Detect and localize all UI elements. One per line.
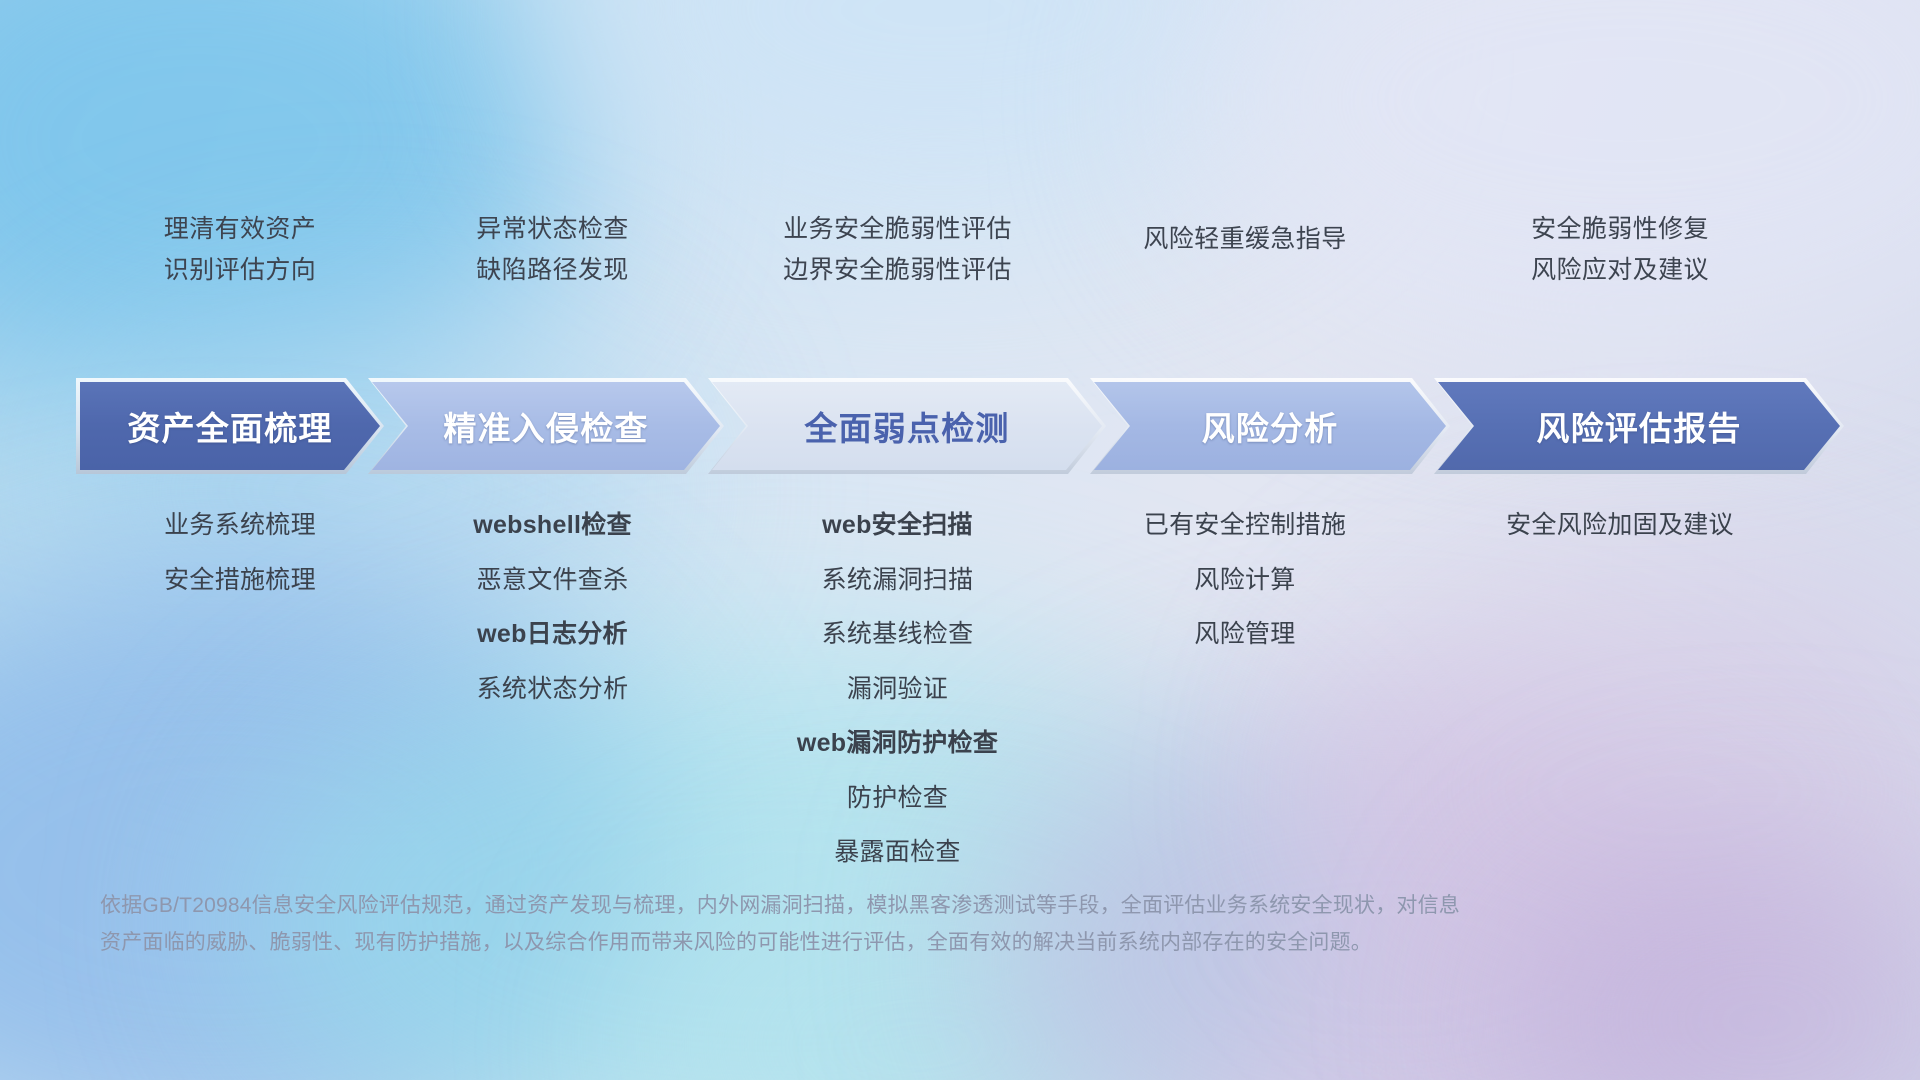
top-label: 风险应对及建议 [1410,250,1830,291]
detail-item: web安全扫描 [715,505,1080,546]
top-label-row: 理清有效资产 识别评估方向 异常状态检查 缺陷路径发现 业务安全脆弱性评估 边界… [90,180,1830,290]
detail-list-stage-3: web安全扫描 系统漏洞扫描 系统基线检查 漏洞验证 web漏洞防护检查 防护检… [715,505,1080,887]
detail-list-stage-4: 已有安全控制措施 风险计算 风险管理 [1080,505,1410,887]
bottom-detail-row: 业务系统梳理 安全措施梳理 webshell检查 恶意文件查杀 web日志分析 … [90,505,1830,887]
footer-line-1: 依据GB/T20984信息安全风险评估规范，通过资产发现与梳理，内外网漏洞扫描，… [100,888,1640,925]
top-label: 风险轻重缓急指导 [1080,219,1410,260]
chevron-stage-2[interactable]: 精准入侵检查 [372,382,720,470]
detail-item: 系统基线检查 [715,614,1080,655]
top-label: 安全脆弱性修复 [1410,209,1830,250]
detail-item: 已有安全控制措施 [1080,505,1410,546]
top-label: 理清有效资产 [90,209,390,250]
detail-item: 安全风险加固及建议 [1410,505,1830,546]
footer-line-2: 资产面临的威胁、脆弱性、现有防护措施，以及综合作用而带来风险的可能性进行评估，全… [100,925,1640,962]
chevron-label: 风险评估报告 [1536,402,1741,450]
detail-list-stage-5: 安全风险加固及建议 [1410,505,1830,887]
detail-item: web漏洞防护检查 [715,723,1080,764]
chevron-stage-3[interactable]: 全面弱点检测 [712,382,1102,470]
detail-list-stage-2: webshell检查 恶意文件查杀 web日志分析 系统状态分析 [390,505,715,887]
process-chevron-band: 资产全面梳理 精准入侵检查 全面弱点检测 风险分析 风险评估报告 [80,382,1840,470]
top-label: 识别评估方向 [90,250,390,291]
detail-item: 风险管理 [1080,614,1410,655]
detail-item: 漏洞验证 [715,669,1080,710]
detail-item: web日志分析 [390,614,715,655]
top-label: 缺陷路径发现 [390,250,715,291]
detail-item: 安全措施梳理 [90,560,390,601]
detail-item: 风险计算 [1080,560,1410,601]
top-labels-stage-3: 业务安全脆弱性评估 边界安全脆弱性评估 [715,209,1080,290]
top-label: 边界安全脆弱性评估 [715,250,1080,291]
detail-item: 系统漏洞扫描 [715,560,1080,601]
footer-description: 依据GB/T20984信息安全风险评估规范，通过资产发现与梳理，内外网漏洞扫描，… [100,888,1640,962]
top-labels-stage-4: 风险轻重缓急指导 [1080,219,1410,291]
detail-item: 暴露面检查 [715,832,1080,873]
chevron-label: 资产全面梳理 [127,402,332,450]
top-label: 异常状态检查 [390,209,715,250]
top-labels-stage-1: 理清有效资产 识别评估方向 [90,209,390,290]
chevron-stage-1[interactable]: 资产全面梳理 [80,382,380,470]
chevron-label: 风险分析 [1202,402,1339,450]
detail-list-stage-1: 业务系统梳理 安全措施梳理 [90,505,390,887]
detail-item: 防护检查 [715,778,1080,819]
detail-item: 业务系统梳理 [90,505,390,546]
chevron-stage-5[interactable]: 风险评估报告 [1438,382,1840,470]
detail-item: 恶意文件查杀 [390,560,715,601]
detail-item: 系统状态分析 [390,669,715,710]
top-labels-stage-5: 安全脆弱性修复 风险应对及建议 [1410,209,1830,290]
chevron-label: 全面弱点检测 [804,402,1009,450]
chevron-label: 精准入侵检查 [443,402,648,450]
chevron-stage-4[interactable]: 风险分析 [1094,382,1446,470]
top-labels-stage-2: 异常状态检查 缺陷路径发现 [390,209,715,290]
detail-item: webshell检查 [390,505,715,546]
top-label: 业务安全脆弱性评估 [715,209,1080,250]
